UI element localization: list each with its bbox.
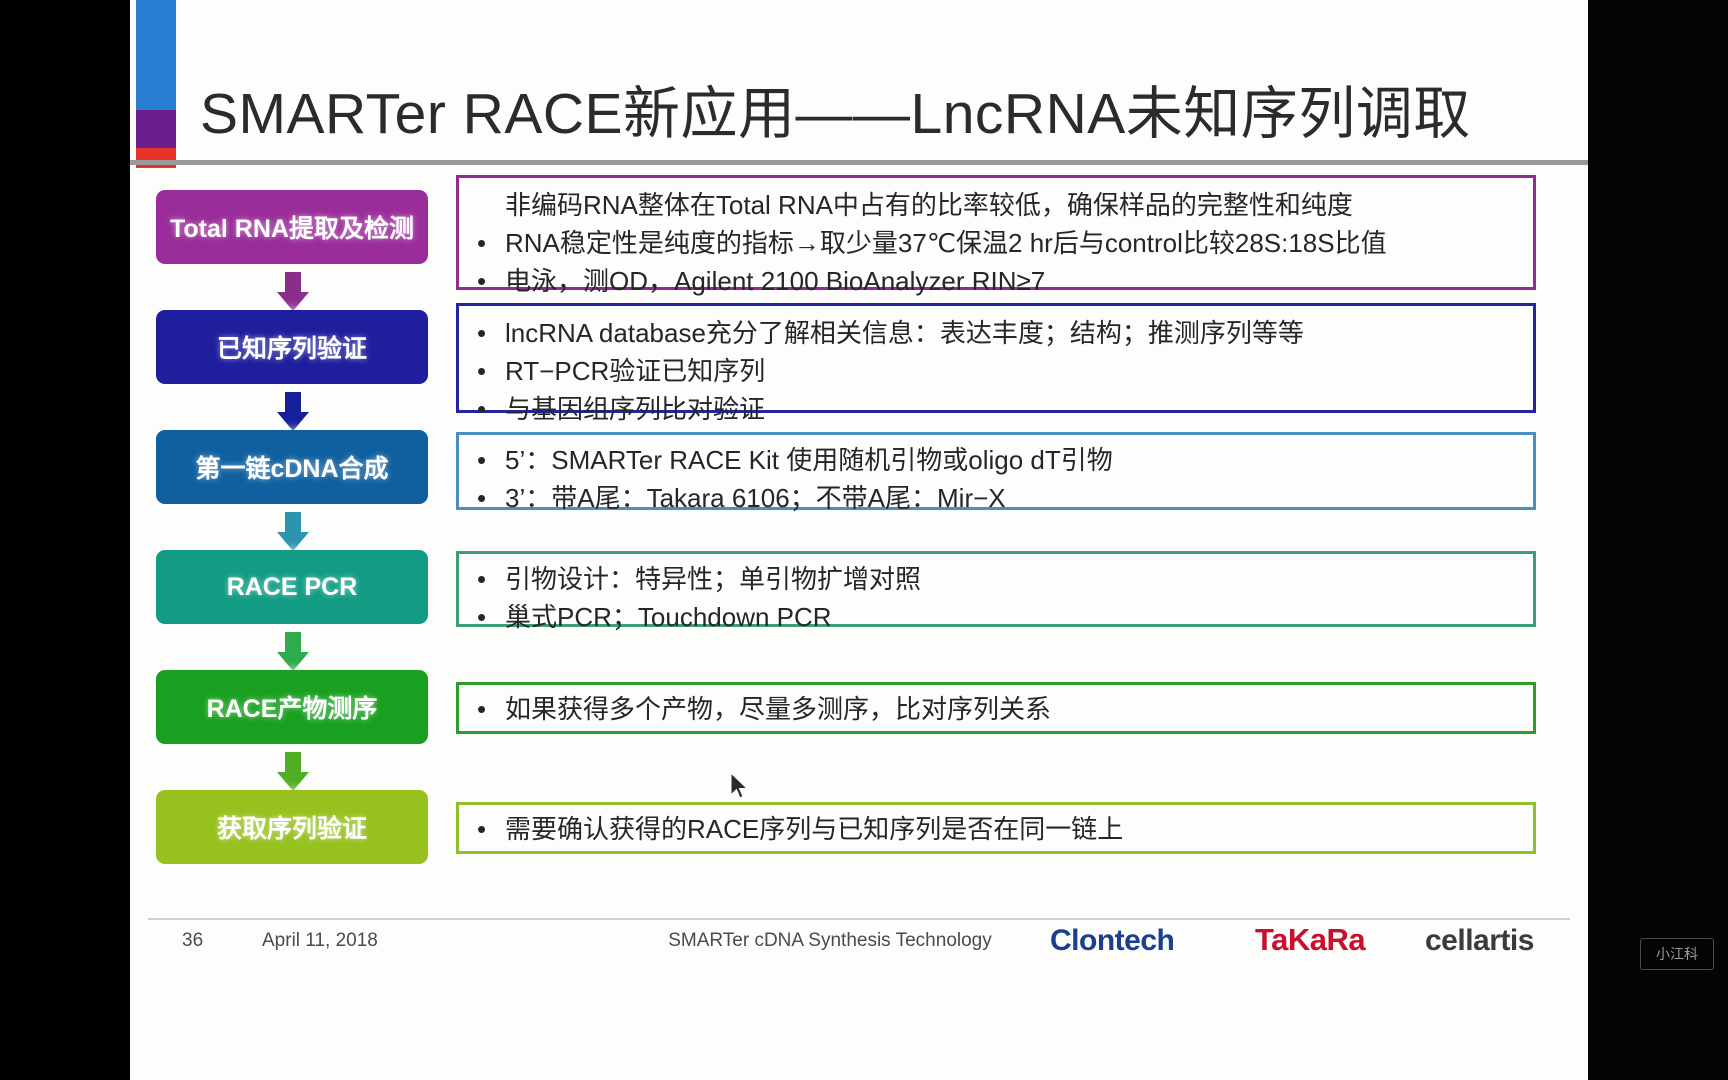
panel-line-list: •非编码RNA整体在Total RNA中占有的比率较低，确保样品的完整性和纯度•… [459, 186, 1533, 300]
panel-line-text: 如果获得多个产物，尽量多测序，比对序列关系 [505, 690, 1533, 728]
panel-line-list: •5’：SMARTer RACE Kit 使用随机引物或oligo dT引物•3… [459, 441, 1533, 517]
bullet-icon: • [459, 690, 505, 728]
page-number: 36 [182, 930, 203, 952]
panel-line: •RT−PCR验证已知序列 [459, 352, 1533, 390]
flow-step-total-rna[interactable]: Total RNA提取及检测 [156, 190, 428, 264]
panel-cdna: •5’：SMARTer RACE Kit 使用随机引物或oligo dT引物•3… [456, 432, 1536, 510]
panel-line: •3’：带A尾：Takara 6106；不带A尾：Mir−X [459, 479, 1533, 517]
logo-group: Clontech TaKaRa cellartis [1050, 920, 1550, 964]
letterbox-left [0, 0, 130, 1080]
panel-line: •电泳，测OD，Agilent 2100 BioAnalyzer RIN≥7 [459, 262, 1533, 300]
footer-date: April 11, 2018 [262, 930, 378, 952]
panel-total-rna: •非编码RNA整体在Total RNA中占有的比率较低，确保样品的完整性和纯度•… [456, 175, 1536, 290]
screen: SMARTer RACE新应用——LncRNA未知序列调取 Total RNA提… [0, 0, 1728, 1080]
bullet-icon: • [459, 560, 505, 598]
panel-line-text: 需要确认获得的RACE序列与已知序列是否在同一链上 [505, 810, 1533, 848]
panel-line-text: 5’：SMARTer RACE Kit 使用随机引物或oligo dT引物 [505, 441, 1533, 479]
letterbox-right [1588, 0, 1728, 1080]
bullet-icon: • [459, 598, 505, 636]
panel-line-text: 非编码RNA整体在Total RNA中占有的比率较低，确保样品的完整性和纯度 [505, 186, 1533, 224]
takara-logo: TaKaRa [1255, 922, 1365, 958]
clontech-logo: Clontech [1050, 924, 1174, 958]
panel-line: •巢式PCR；Touchdown PCR [459, 598, 1533, 636]
bullet-icon: • [459, 262, 505, 300]
panel-line-list: •lncRNA database充分了解相关信息：表达丰度；结构；推测序列等等•… [459, 314, 1533, 428]
deco-purple-block [136, 110, 176, 148]
panel-line-text: 3’：带A尾：Takara 6106；不带A尾：Mir−X [505, 479, 1533, 517]
bullet-icon: • [459, 314, 505, 352]
panel-race-pcr: •引物设计：特异性；单引物扩增对照•巢式PCR；Touchdown PCR [456, 551, 1536, 627]
bullet-icon: • [459, 352, 505, 390]
panel-line: •需要确认获得的RACE序列与已知序列是否在同一链上 [459, 810, 1533, 848]
slide-canvas: SMARTer RACE新应用——LncRNA未知序列调取 Total RNA提… [130, 0, 1588, 1080]
process-flow: Total RNA提取及检测 已知序列验证 第一链cDNA合成 RACE PCR… [156, 190, 456, 870]
panel-line: •5’：SMARTer RACE Kit 使用随机引物或oligo dT引物 [459, 441, 1533, 479]
flow-step-known-seq[interactable]: 已知序列验证 [156, 310, 428, 384]
deco-blue-block [136, 0, 176, 110]
bullet-icon: • [459, 441, 505, 479]
panel-line: •引物设计：特异性；单引物扩增对照 [459, 560, 1533, 598]
panel-line-list: •需要确认获得的RACE序列与已知序列是否在同一链上 [459, 810, 1533, 848]
bullet-icon: • [459, 390, 505, 428]
panel-line: •如果获得多个产物，尽量多测序，比对序列关系 [459, 690, 1533, 728]
watermark-badge: 小江科 [1640, 938, 1714, 970]
panel-line-list: •引物设计：特异性；单引物扩增对照•巢式PCR；Touchdown PCR [459, 560, 1533, 636]
panel-line-list: •如果获得多个产物，尽量多测序，比对序列关系 [459, 690, 1533, 728]
panel-line-text: 电泳，测OD，Agilent 2100 BioAnalyzer RIN≥7 [505, 262, 1533, 300]
footer-subtitle: SMARTer cDNA Synthesis Technology [620, 930, 1040, 952]
flow-step-verify[interactable]: 获取序列验证 [156, 790, 428, 864]
panel-line-text: RNA稳定性是纯度的指标→取少量37℃保温2 hr后与control比较28S:… [505, 224, 1533, 262]
bullet-icon: • [459, 224, 505, 262]
panel-line: •lncRNA database充分了解相关信息：表达丰度；结构；推测序列等等 [459, 314, 1533, 352]
panel-line-text: RT−PCR验证已知序列 [505, 352, 1533, 390]
panel-line: •RNA稳定性是纯度的指标→取少量37℃保温2 hr后与control比较28S… [459, 224, 1533, 262]
flow-step-race-pcr[interactable]: RACE PCR [156, 550, 428, 624]
panel-verify: •需要确认获得的RACE序列与已知序列是否在同一链上 [456, 802, 1536, 854]
panel-line: •与基因组序列比对验证 [459, 390, 1533, 428]
panel-known-seq: •lncRNA database充分了解相关信息：表达丰度；结构；推测序列等等•… [456, 303, 1536, 413]
panel-line-text: lncRNA database充分了解相关信息：表达丰度；结构；推测序列等等 [505, 314, 1533, 352]
deco-red-block [136, 148, 176, 168]
flow-step-cdna[interactable]: 第一链cDNA合成 [156, 430, 428, 504]
mouse-cursor-icon [731, 773, 751, 803]
cellartis-logo: cellartis [1425, 924, 1534, 958]
panel-line: •非编码RNA整体在Total RNA中占有的比率较低，确保样品的完整性和纯度 [459, 186, 1533, 224]
title-divider [130, 160, 1588, 165]
panel-line-text: 引物设计：特异性；单引物扩增对照 [505, 560, 1533, 598]
flow-step-sequencing[interactable]: RACE产物测序 [156, 670, 428, 744]
panel-line-text: 与基因组序列比对验证 [505, 390, 1533, 428]
panel-line-text: 巢式PCR；Touchdown PCR [505, 598, 1533, 636]
slide-title: SMARTer RACE新应用——LncRNA未知序列调取 [200, 70, 1530, 158]
bullet-icon: • [459, 479, 505, 517]
bullet-icon: • [459, 810, 505, 848]
panel-sequencing: •如果获得多个产物，尽量多测序，比对序列关系 [456, 682, 1536, 734]
